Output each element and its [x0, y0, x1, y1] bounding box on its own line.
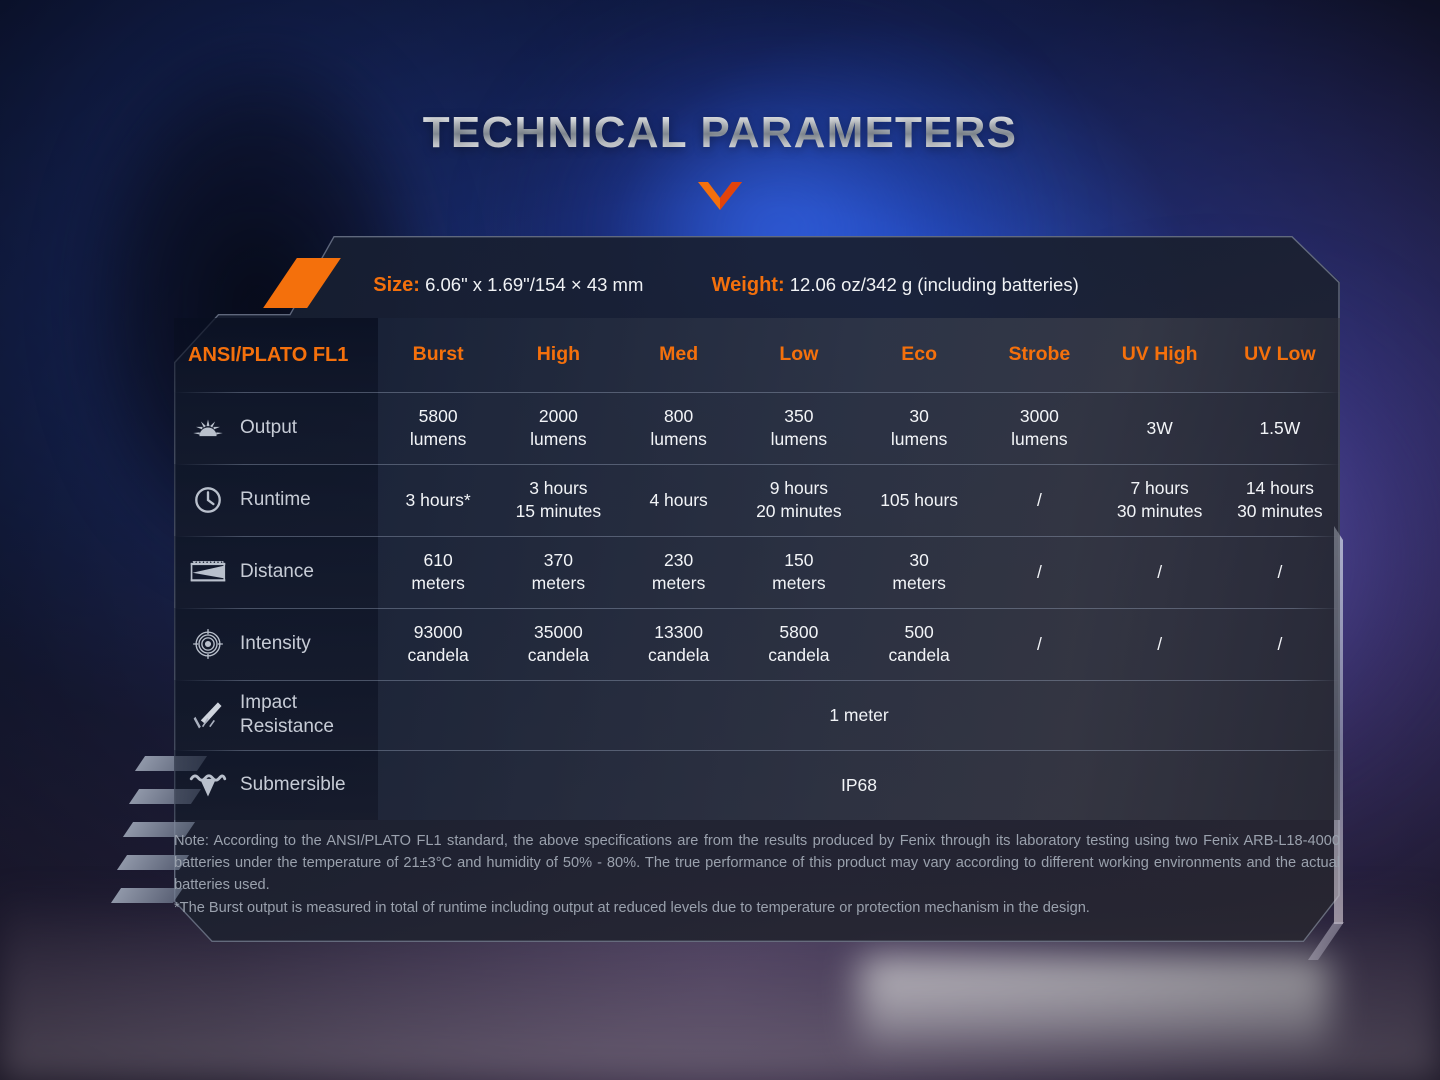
table-row: Output5800lumens2000lumens800lumens350lu… [174, 392, 1340, 464]
table-cell: 93000candela [378, 608, 498, 680]
column-header-med: Med [619, 318, 739, 392]
table-cell: 800lumens [619, 392, 739, 464]
row-label-runtime: Runtime [174, 464, 378, 536]
column-header-uv-high: UV High [1100, 318, 1220, 392]
row-values: IP68 [378, 750, 1340, 820]
page-title: TECHNICAL PARAMETERS [0, 108, 1440, 158]
cell-line-2: lumens [530, 428, 586, 451]
cell-line-1: 3000 [1020, 405, 1059, 428]
column-header-uv-low: UV Low [1220, 318, 1340, 392]
column-header-high: High [498, 318, 618, 392]
cell-line-1: 9 hours [770, 477, 828, 500]
table-cell: / [1100, 536, 1220, 608]
cell-line-1: / [1037, 561, 1042, 584]
sunburst-icon [188, 409, 228, 447]
cell-line-2: lumens [1011, 428, 1067, 451]
table-cell: 150meters [739, 536, 859, 608]
corner-header-label: ANSI/PLATO FL1 [188, 344, 348, 367]
cell-line-1: 13300 [654, 621, 703, 644]
cell-line-1: / [1037, 489, 1042, 512]
table-row: Intensity93000candela35000candela13300ca… [174, 608, 1340, 680]
cell-line-1: 500 [905, 621, 934, 644]
table-cell: 350lumens [739, 392, 859, 464]
row-values: 93000candela35000candela13300candela5800… [378, 608, 1340, 680]
cell-line-1: 800 [664, 405, 693, 428]
cell-line-1: 230 [664, 549, 693, 572]
row-title-text: Output [240, 416, 297, 440]
chevron-down-icon [696, 180, 744, 214]
table-cell: / [1220, 536, 1340, 608]
cell-line-1: 3 hours [529, 477, 587, 500]
row-values: 1 meter [378, 680, 1340, 750]
cell-line-2: candela [888, 644, 949, 667]
screenshot-root: TECHNICAL PARAMETERS Size: 6.06" x 1.69"… [0, 0, 1440, 1080]
table-cell: 610meters [378, 536, 498, 608]
row-values: 5800lumens2000lumens800lumens350lumens30… [378, 392, 1340, 464]
cell-line-1: 30 [909, 549, 928, 572]
table-cell: / [1100, 608, 1220, 680]
cell-line-2: meters [652, 572, 705, 595]
size-weight-summary: Size: 6.06" x 1.69"/154 × 43 mm Weight: … [112, 274, 1340, 297]
table-cell: 30lumens [859, 392, 979, 464]
cell-line-2: 30 minutes [1117, 500, 1203, 523]
cell-line-2: meters [892, 572, 945, 595]
table-cell: 3 hours15 minutes [498, 464, 618, 536]
cell-line-1: 4 hours [649, 489, 707, 512]
table-cell: 105 hours [859, 464, 979, 536]
table-row: ImpactResistance1 meter [174, 680, 1340, 750]
table-corner-header: ANSI/PLATO FL1 [174, 318, 378, 392]
cell-line-1: 150 [784, 549, 813, 572]
cell-line-1: 1.5W [1259, 417, 1300, 440]
row-title-text: Runtime [240, 488, 311, 512]
table-cell: 3000lumens [979, 392, 1099, 464]
cell-line-1: 35000 [534, 621, 583, 644]
size-value: 6.06" x 1.69"/154 × 43 mm [425, 274, 643, 295]
cell-line-1: / [1157, 561, 1162, 584]
table-cell: 7 hours30 minutes [1100, 464, 1220, 536]
cell-line-1: / [1037, 633, 1042, 656]
row-title-text: Intensity [240, 632, 311, 656]
cell-line-2: candela [648, 644, 709, 667]
cell-line-1: 370 [544, 549, 573, 572]
table-cell: 5800candela [739, 608, 859, 680]
cell-line-1: / [1277, 561, 1282, 584]
row-title-text: Submersible [240, 773, 346, 797]
cell-line-2: meters [532, 572, 585, 595]
table-cell: 2000lumens [498, 392, 618, 464]
table-cell: 230meters [619, 536, 739, 608]
cell-line-2: lumens [650, 428, 706, 451]
table-cell: 4 hours [619, 464, 739, 536]
size-label: Size: [373, 274, 420, 296]
weight-value: 12.06 oz/342 g (including batteries) [790, 274, 1079, 295]
cell-line-1: / [1157, 633, 1162, 656]
cell-line-2: candela [768, 644, 829, 667]
cell-line-2: meters [772, 572, 825, 595]
table-cell: 35000candela [498, 608, 618, 680]
cell-line-1: 3 hours* [406, 489, 471, 512]
cell-line-1: 5800 [779, 621, 818, 644]
spanning-value: 1 meter [378, 680, 1340, 750]
cell-line-2: lumens [891, 428, 947, 451]
cell-line-1: 93000 [414, 621, 463, 644]
cell-line-2: 30 minutes [1237, 500, 1323, 523]
clock-icon [188, 482, 228, 518]
row-title-text: ImpactResistance [240, 691, 334, 740]
row-title-text: Distance [240, 560, 314, 584]
row-label-output: Output [174, 392, 378, 464]
cell-line-2: 20 minutes [756, 500, 842, 523]
column-header-low: Low [739, 318, 859, 392]
row-values: 3 hours*3 hours15 minutes4 hours9 hours2… [378, 464, 1340, 536]
cell-line-2: meters [411, 572, 464, 595]
row-label-intensity: Intensity [174, 608, 378, 680]
table-row: SubmersibleIP68 [174, 750, 1340, 820]
table-cell: 9 hours20 minutes [739, 464, 859, 536]
spanning-value: IP68 [378, 750, 1340, 820]
footnote-paragraph-1: Note: According to the ANSI/PLATO FL1 st… [174, 830, 1340, 897]
cell-line-2: candela [407, 644, 468, 667]
footnote: Note: According to the ANSI/PLATO FL1 st… [174, 830, 1340, 919]
spec-table: ANSI/PLATO FL1BurstHighMedLowEcoStrobeUV… [174, 318, 1340, 820]
cell-line-1: 3W [1147, 417, 1173, 440]
table-header-row: ANSI/PLATO FL1BurstHighMedLowEcoStrobeUV… [174, 318, 1340, 392]
table-header-cells: BurstHighMedLowEcoStrobeUV HighUV Low [378, 318, 1340, 392]
row-values: 610meters370meters230meters150meters30me… [378, 536, 1340, 608]
table-cell: 500candela [859, 608, 979, 680]
cell-line-1: 7 hours [1130, 477, 1188, 500]
table-cell: 3W [1100, 392, 1220, 464]
table-cell: 3 hours* [378, 464, 498, 536]
spec-panel: Size: 6.06" x 1.69"/154 × 43 mm Weight: … [112, 236, 1340, 942]
cell-line-1: 2000 [539, 405, 578, 428]
table-cell: / [979, 608, 1099, 680]
table-cell: / [979, 464, 1099, 536]
table-cell: 30meters [859, 536, 979, 608]
cell-line-1: 5800 [419, 405, 458, 428]
table-cell: 5800lumens [378, 392, 498, 464]
column-header-strobe: Strobe [979, 318, 1099, 392]
table-cell: 13300candela [619, 608, 739, 680]
row-label-submersible: Submersible [174, 750, 378, 820]
table-cell: 370meters [498, 536, 618, 608]
cell-line-1: 350 [784, 405, 813, 428]
cell-line-1: 105 hours [880, 489, 958, 512]
cell-line-1: 30 [909, 405, 928, 428]
row-label-distance: Distance [174, 536, 378, 608]
cell-line-2: candela [528, 644, 589, 667]
target-icon [188, 626, 228, 662]
cell-line-1: 610 [424, 549, 453, 572]
weight-label: Weight: [712, 274, 785, 296]
ruler-beam-icon [188, 556, 228, 588]
column-header-burst: Burst [378, 318, 498, 392]
table-cell: 1.5W [1220, 392, 1340, 464]
cell-line-1: / [1277, 633, 1282, 656]
cell-line-2: lumens [771, 428, 827, 451]
cell-line-1: 14 hours [1246, 477, 1314, 500]
table-row: Runtime3 hours*3 hours15 minutes4 hours9… [174, 464, 1340, 536]
impact-hammer-icon [188, 697, 228, 733]
row-label-impact-resistance: ImpactResistance [174, 680, 378, 750]
cell-line-2: 15 minutes [516, 500, 602, 523]
wave-drop-icon [188, 770, 228, 800]
column-header-eco: Eco [859, 318, 979, 392]
footnote-paragraph-2: *The Burst output is measured in total o… [174, 897, 1340, 919]
table-cell: / [979, 536, 1099, 608]
table-cell: / [1220, 608, 1340, 680]
table-cell: 14 hours30 minutes [1220, 464, 1340, 536]
cell-line-2: lumens [410, 428, 466, 451]
table-row: Distance610meters370meters230meters150me… [174, 536, 1340, 608]
